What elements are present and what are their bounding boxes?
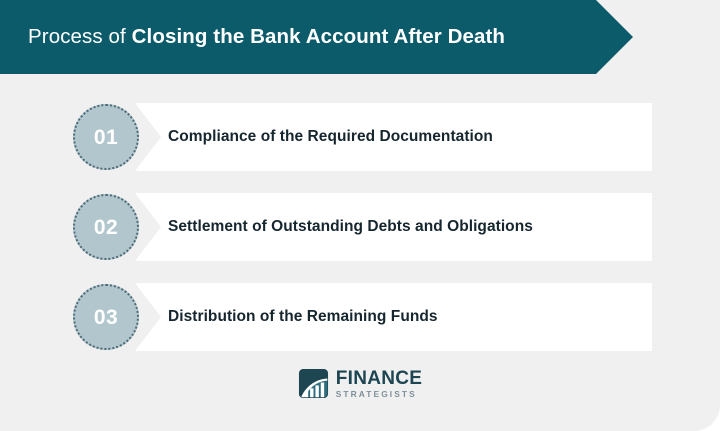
- list-item: Compliance of the Required Documentation…: [0, 103, 720, 171]
- page-title: Process of Closing the Bank Account Afte…: [28, 25, 505, 49]
- step-panel: Distribution of the Remaining Funds: [135, 283, 652, 351]
- step-number: 01: [94, 127, 118, 148]
- list-item: Settlement of Outstanding Debts and Obli…: [0, 193, 720, 261]
- brand-logo: FINANCE STRATEGISTS: [0, 368, 720, 399]
- brand-name-primary: FINANCE: [336, 369, 423, 388]
- finance-strategists-bar-chart-icon: [298, 368, 329, 399]
- infographic-root: Process of Closing the Bank Account Afte…: [0, 0, 720, 431]
- header-banner: Process of Closing the Bank Account Afte…: [0, 0, 633, 74]
- step-label: Distribution of the Remaining Funds: [168, 308, 438, 326]
- step-label: Compliance of the Required Documentation: [168, 128, 493, 146]
- step-number-badge: 02: [73, 194, 139, 260]
- step-panel: Settlement of Outstanding Debts and Obli…: [135, 193, 652, 261]
- step-number-badge: 01: [73, 104, 139, 170]
- step-label: Settlement of Outstanding Debts and Obli…: [168, 218, 533, 236]
- step-number: 03: [94, 307, 118, 328]
- step-number: 02: [94, 217, 118, 238]
- steps-list: Compliance of the Required Documentation…: [0, 103, 720, 373]
- brand-wordmark: FINANCE STRATEGISTS: [336, 369, 423, 398]
- page-title-regular: Process of: [28, 25, 132, 48]
- step-panel: Compliance of the Required Documentation: [135, 103, 652, 171]
- page-title-bold: Closing the Bank Account After Death: [132, 25, 505, 48]
- brand-name-secondary: STRATEGISTS: [336, 390, 423, 398]
- step-number-badge: 03: [73, 284, 139, 350]
- list-item: Distribution of the Remaining Funds 03: [0, 283, 720, 351]
